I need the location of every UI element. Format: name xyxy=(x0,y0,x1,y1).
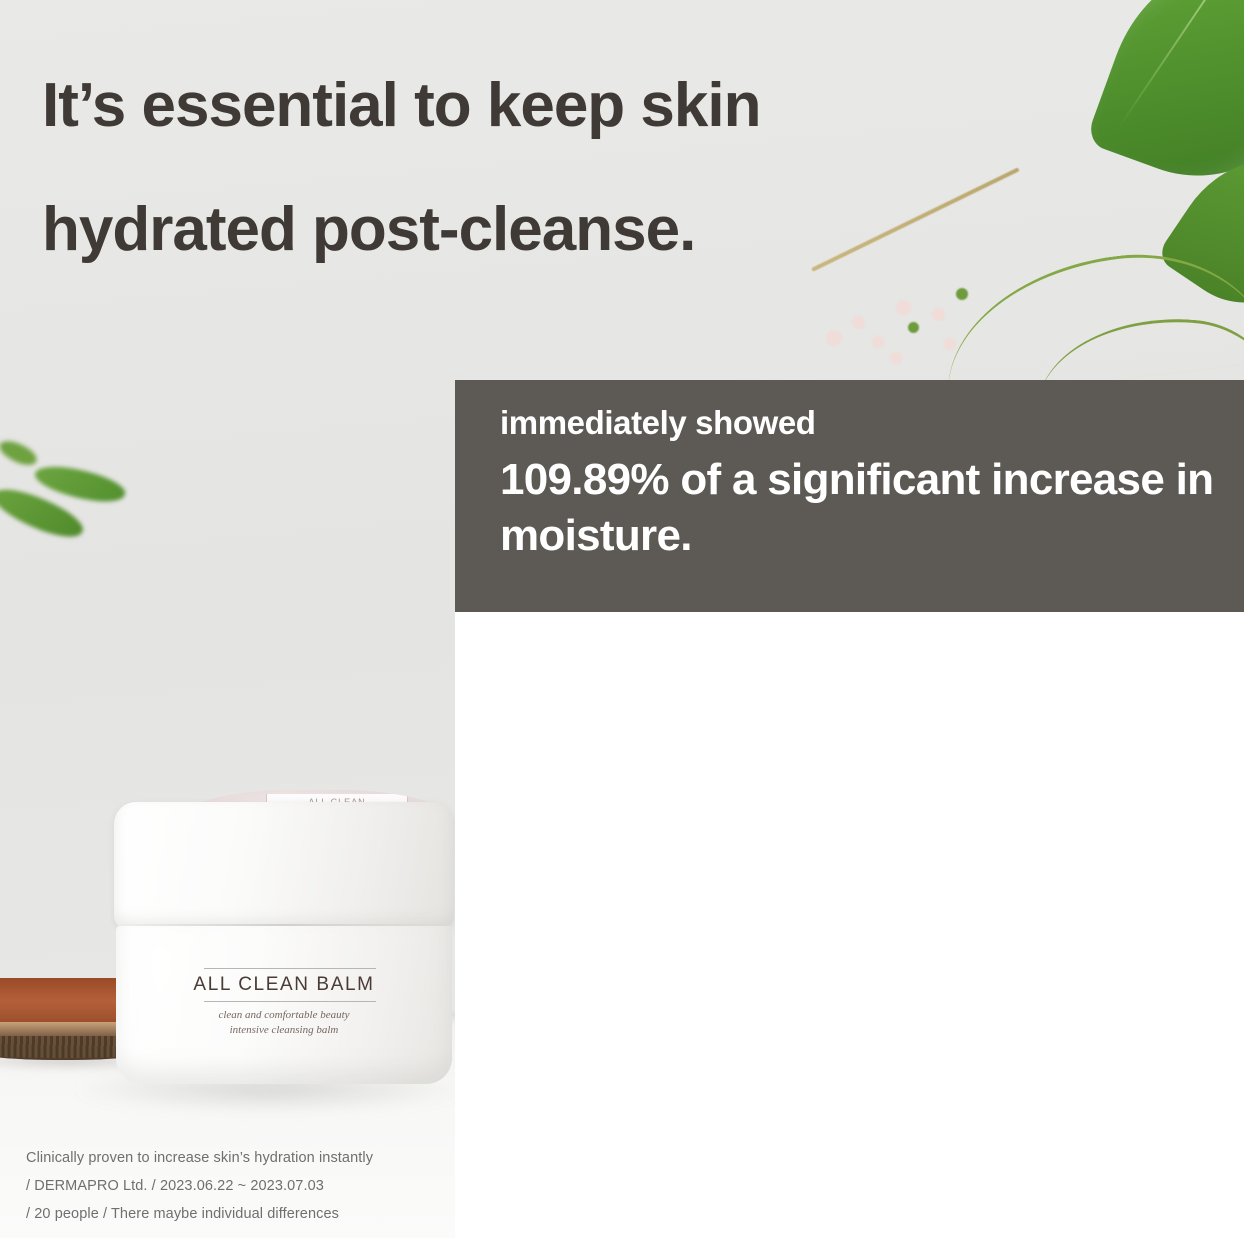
callout-statistic: 109.89% of a significant increase in moi… xyxy=(500,452,1220,564)
product-tagline-line1: clean and comfortable beauty xyxy=(108,1008,460,1023)
disclaimer: Clinically proven to increase skin’s hyd… xyxy=(26,1144,456,1228)
blossom-icon xyxy=(872,336,884,348)
headline: It’s essential to keep skin hydrated pos… xyxy=(42,44,1052,292)
blossom-icon xyxy=(896,300,911,315)
blossom-icon xyxy=(826,330,842,346)
label-rule-bottom xyxy=(204,1001,376,1002)
chart-panel: Hydrating(%) xyxy=(455,612,1244,1238)
product-jar: ALL CLEAN ALL CLEAN BALM clean and comfo… xyxy=(108,792,460,1092)
statistic-callout-box: immediately showed 109.89% of a signific… xyxy=(455,380,1244,612)
blossom-icon xyxy=(890,352,902,364)
jar-highlight xyxy=(148,942,174,1062)
jar-lid xyxy=(114,802,454,930)
bud-icon xyxy=(908,322,919,333)
blossom-icon xyxy=(932,308,945,321)
advertisement-canvas: ALL CLEAN ALL CLEAN BALM clean and comfo… xyxy=(0,0,1244,1238)
product-name: ALL CLEAN BALM xyxy=(108,974,460,996)
callout-subtitle: immediately showed xyxy=(500,404,816,442)
blossom-icon xyxy=(944,338,956,350)
headline-line-2: hydrated post-cleanse. xyxy=(42,168,1052,292)
disclaimer-line-2: / DERMAPRO Ltd. / 2023.06.22 ~ 2023.07.0… xyxy=(26,1172,456,1200)
label-rule-top xyxy=(204,968,376,969)
disclaimer-line-1: Clinically proven to increase skin’s hyd… xyxy=(26,1144,456,1172)
headline-line-1: It’s essential to keep skin xyxy=(42,44,1052,168)
product-tagline-line2: intensive cleansing balm xyxy=(108,1023,460,1038)
blossom-icon xyxy=(852,316,865,329)
disclaimer-line-3: / 20 people / There maybe individual dif… xyxy=(26,1200,456,1228)
